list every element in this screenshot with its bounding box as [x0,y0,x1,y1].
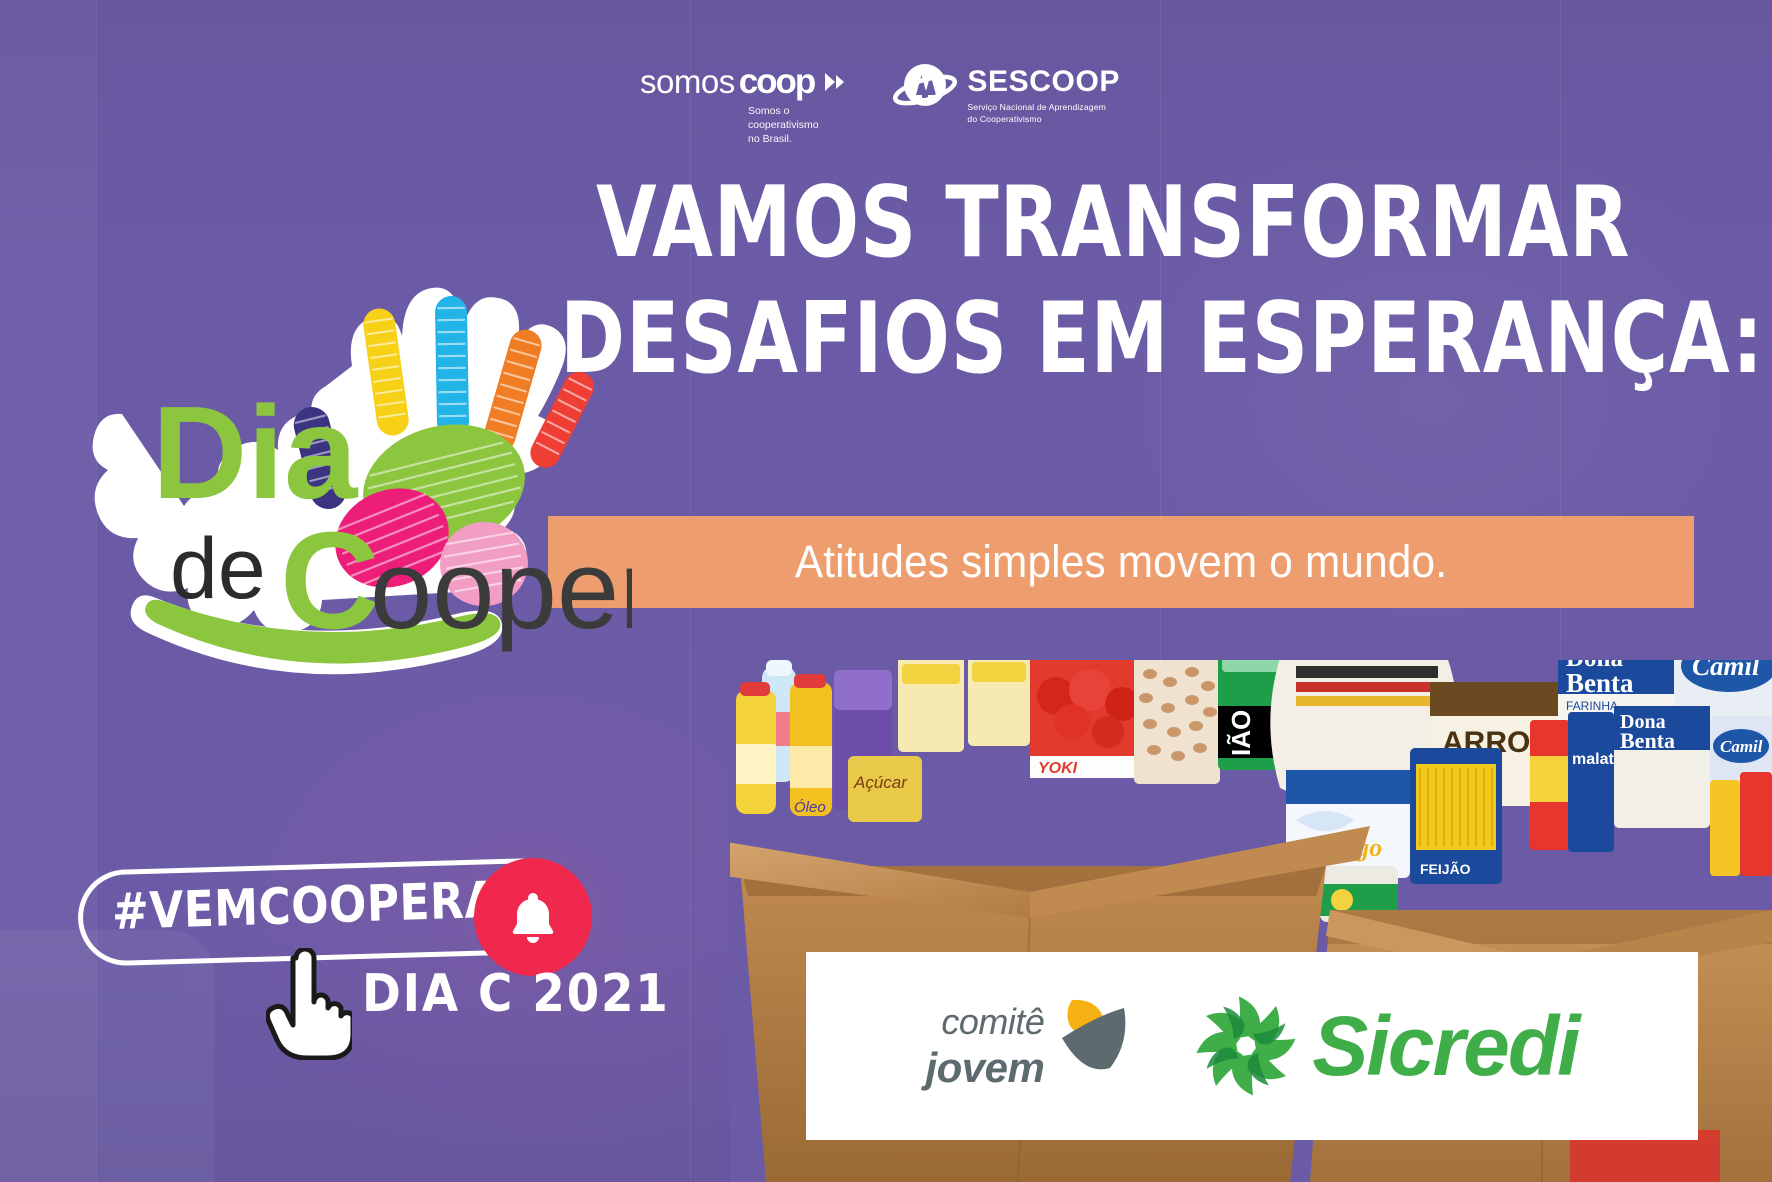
sescoop-tagline-line1: Serviço Nacional de Aprendizagem [967,102,1120,114]
comite-jovem-line2: jovem [925,1047,1044,1089]
svg-text:Camil: Camil [1720,737,1763,756]
comite-jovem-line1: comitê [941,1004,1044,1040]
somoscoop-logo: somos coop Somos o cooperativismo no Bra… [640,62,858,146]
svg-text:Benta: Benta [1620,728,1675,753]
sicredi-logo: Sicredi [1194,994,1578,1098]
comite-jovem-arrow-icon [1054,996,1138,1080]
logo-word-c: C [280,504,380,658]
sescoop-tagline: Serviço Nacional de Aprendizagem do Coop… [967,102,1120,125]
svg-text:Óleo: Óleo [794,799,826,816]
sescoop-planet-icon [892,60,958,116]
top-logo-row: somos coop Somos o cooperativismo no Bra… [640,62,1120,162]
svg-text:Açúcar: Açúcar [853,773,908,792]
double-chevron-right-icon [823,71,849,98]
headline-line-2: DESAFIOS EM ESPERANÇA: [560,292,1448,386]
sescoop-name: SESCOOP [967,65,1120,98]
sicredi-name: Sicredi [1312,1004,1578,1088]
svg-text:FEIJÃO: FEIJÃO [1420,860,1471,877]
svg-text:Benta: Benta [1566,668,1634,698]
svg-text:malat: malat [1572,751,1614,768]
somoscoop-wordmark: somos coop [640,62,858,100]
hashtag-badge[interactable]: #VEMCOOPERAR DIA C 2021 [78,864,638,968]
svg-text:FARINHA: FARINHA [1566,699,1618,713]
sponsor-bar: comitê jovem [806,952,1698,1140]
subtitle-text: Atitudes simples movem o mundo. [582,516,1659,608]
headline: VAMOS TRANSFORMAR DESAFIOS EM ESPERANÇA: [560,176,1670,386]
svg-text:IÃO: IÃO [1226,710,1256,756]
event-label: DIA C 2021 [362,964,670,1024]
somoscoop-tagline-line1: Somos o [748,104,858,118]
comite-jovem-text: comitê jovem [925,1004,1044,1089]
logo-word-ooperar: ooperar [370,527,632,652]
sescoop-text-block: SESCOOP Serviço Nacional de Aprendizagem… [967,62,1120,125]
bell-badge[interactable] [474,858,592,976]
sicredi-pinwheel-icon [1194,994,1298,1098]
comite-jovem-logo: comitê jovem [925,1004,1138,1089]
banner-canvas: somos coop Somos o cooperativismo no Bra… [0,0,1772,1182]
sescoop-logo: SESCOOP Serviço Nacional de Aprendizagem… [892,62,1120,125]
logo-word-de: de [170,521,266,617]
headline-line-1: VAMOS TRANSFORMAR [596,176,1455,270]
bell-icon [503,887,563,947]
hashtag-label: #VEMCOOPERAR [111,869,491,943]
svg-text:Camil: Camil [1692,660,1760,681]
svg-text:YOKI: YOKI [1038,760,1078,777]
sescoop-tagline-line2: do Cooperativismo [967,114,1120,126]
somoscoop-tagline: Somos o cooperativismo no Brasil. [748,104,858,146]
somoscoop-tagline-line3: no Brasil. [748,132,858,146]
dia-de-cooperar-logo: Dia de C ooperar [52,246,632,676]
pointing-hand-cursor-icon [266,948,352,1060]
somoscoop-word-bold: coop [739,64,815,99]
somoscoop-tagline-line2: cooperativismo [748,118,858,132]
subtitle-band: Atitudes simples movem o mundo. [548,516,1694,608]
somoscoop-word-light: somos [640,65,735,98]
